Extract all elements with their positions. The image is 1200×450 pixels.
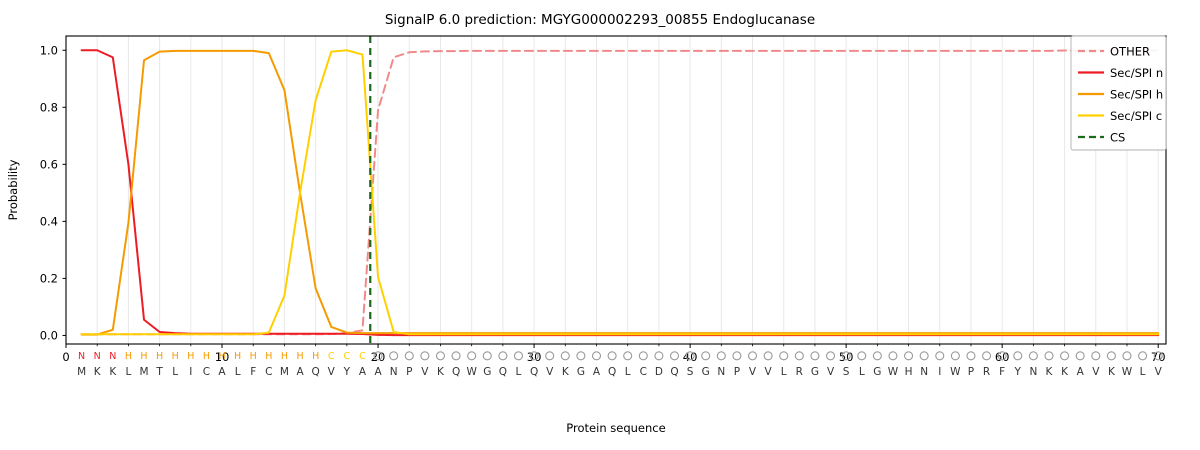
sequence-residue: C xyxy=(640,366,647,378)
sequence-residue: Y xyxy=(1014,366,1022,378)
sequence-residue: K xyxy=(1061,366,1069,378)
sequence-residue: A xyxy=(296,366,304,378)
signalp-prediction-figure: SignalP 6.0 prediction: MGYG000002293_00… xyxy=(0,0,1200,450)
region-label-h: H xyxy=(296,351,303,362)
sequence-residue: L xyxy=(125,366,131,378)
sequence-residue: Y xyxy=(343,366,351,378)
region-label-c: C xyxy=(328,351,335,362)
sequence-residue: G xyxy=(483,366,491,378)
sequence-residue: W xyxy=(466,366,477,378)
sequence-residue: P xyxy=(406,366,412,378)
x-axis-label: Protein sequence xyxy=(566,421,665,435)
legend-label-cs[interactable]: CS xyxy=(1110,130,1125,144)
sequence-residue: N xyxy=(717,366,725,378)
sequence-residue: G xyxy=(811,366,819,378)
chart-canvas: SignalP 6.0 prediction: MGYG000002293_00… xyxy=(0,0,1200,450)
y-tick-label: 0.8 xyxy=(40,100,58,114)
sequence-residue: D xyxy=(655,366,663,378)
y-tick-label: 0.6 xyxy=(40,157,58,171)
sequence-residue: L xyxy=(235,366,241,378)
sequence-residue: M xyxy=(139,366,148,378)
y-tick-label: 0.4 xyxy=(40,214,58,228)
sequence-residue: W xyxy=(1122,366,1133,378)
sequence-residue: I xyxy=(938,366,941,378)
sequence-residue: F xyxy=(999,366,1005,378)
sequence-residue: Q xyxy=(452,366,460,378)
sequence-residue: T xyxy=(155,366,163,378)
sequence-residue: R xyxy=(796,366,803,378)
sequence-residue: Q xyxy=(608,366,616,378)
region-label-h: H xyxy=(218,351,225,362)
sequence-residue: V xyxy=(1092,366,1100,378)
sequence-residue: A xyxy=(593,366,601,378)
sequence-residue: P xyxy=(968,366,974,378)
y-tick-label: 0.0 xyxy=(40,328,58,342)
sequence-residue: I xyxy=(189,366,192,378)
sequence-residue: K xyxy=(1046,366,1054,378)
sequence-residue: H xyxy=(905,366,913,378)
region-label-n: N xyxy=(78,351,85,362)
chart-title: SignalP 6.0 prediction: MGYG000002293_00… xyxy=(385,12,815,28)
sequence-residue: F xyxy=(250,366,256,378)
region-label-n: N xyxy=(94,351,101,362)
region-label-h: H xyxy=(125,351,132,362)
sequence-residue: V xyxy=(1155,366,1163,378)
sequence-residue: V xyxy=(421,366,429,378)
sequence-residue: A xyxy=(218,366,226,378)
legend-label-sec-spi-c[interactable]: Sec/SPI c xyxy=(1110,109,1162,123)
sequence-residue: G xyxy=(702,366,710,378)
sequence-residue: V xyxy=(749,366,757,378)
sequence-residue: V xyxy=(765,366,773,378)
sequence-residue: C xyxy=(265,366,272,378)
region-label-h: H xyxy=(265,351,272,362)
sequence-residue: C xyxy=(203,366,210,378)
region-label-h: H xyxy=(234,351,241,362)
sequence-residue: S xyxy=(843,366,850,378)
sequence-residue: K xyxy=(1108,366,1116,378)
region-label-h: H xyxy=(312,351,319,362)
sequence-residue: G xyxy=(577,366,585,378)
y-tick-label: 1.0 xyxy=(40,43,58,57)
region-label-h: H xyxy=(156,351,163,362)
legend-label-sec-spi-n[interactable]: Sec/SPI n xyxy=(1110,66,1163,80)
sequence-residue: N xyxy=(390,366,398,378)
y-tick-label: 0.2 xyxy=(40,271,58,285)
sequence-residue: R xyxy=(983,366,990,378)
sequence-residue: Q xyxy=(530,366,538,378)
chart-legend[interactable]: OTHERSec/SPI nSec/SPI hSec/SPI cCS xyxy=(1071,36,1166,150)
sequence-residue: L xyxy=(625,366,631,378)
sequence-residue: A xyxy=(1077,366,1085,378)
region-label-c: C xyxy=(359,351,366,362)
sequence-residue: G xyxy=(873,366,881,378)
legend-label-other[interactable]: OTHER xyxy=(1110,44,1150,58)
sequence-residue: A xyxy=(374,366,382,378)
sequence-residue: A xyxy=(359,366,367,378)
sequence-residue: W xyxy=(950,366,961,378)
x-tick-label: 0 xyxy=(62,350,69,364)
sequence-residue: K xyxy=(109,366,117,378)
region-label-c: C xyxy=(344,351,351,362)
sequence-residue: K xyxy=(94,366,102,378)
sequence-residue: P xyxy=(734,366,740,378)
y-axis-label: Probability xyxy=(6,159,20,220)
region-label-h: H xyxy=(281,351,288,362)
sequence-residue: L xyxy=(1140,366,1146,378)
sequence-residue: M xyxy=(280,366,289,378)
sequence-residue: Q xyxy=(670,366,678,378)
sequence-residue: V xyxy=(827,366,835,378)
sequence-residue: Q xyxy=(499,366,507,378)
sequence-residue: L xyxy=(172,366,178,378)
figure-background xyxy=(0,0,1200,450)
sequence-residue: K xyxy=(562,366,570,378)
sequence-residue: S xyxy=(687,366,694,378)
legend-label-sec-spi-h[interactable]: Sec/SPI h xyxy=(1110,87,1163,101)
sequence-residue: N xyxy=(1029,366,1037,378)
region-label-h: H xyxy=(140,351,147,362)
region-label-h: H xyxy=(250,351,257,362)
sequence-residue: L xyxy=(781,366,787,378)
sequence-residue: N xyxy=(920,366,928,378)
sequence-residue: L xyxy=(516,366,522,378)
sequence-residue: V xyxy=(328,366,336,378)
region-label-h: H xyxy=(203,351,210,362)
region-label-h: H xyxy=(187,351,194,362)
region-label-h: H xyxy=(172,351,179,362)
sequence-residue: Q xyxy=(312,366,320,378)
sequence-residue: K xyxy=(437,366,445,378)
region-label-n: N xyxy=(109,351,116,362)
sequence-residue: V xyxy=(546,366,554,378)
sequence-residue: W xyxy=(888,366,899,378)
sequence-residue: L xyxy=(859,366,865,378)
sequence-residue: M xyxy=(77,366,86,378)
